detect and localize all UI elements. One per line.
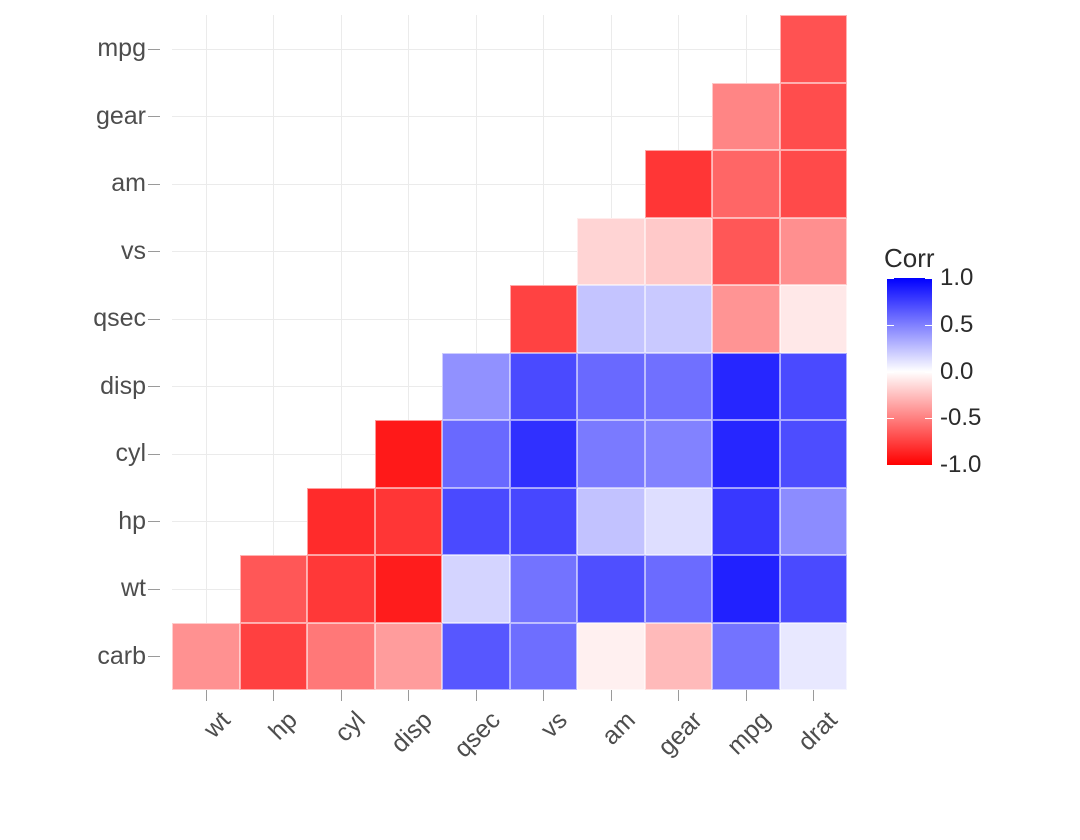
heatmap-cell[interactable] xyxy=(712,420,780,488)
x-axis-tick xyxy=(476,690,477,701)
legend-tick-label: -1.0 xyxy=(940,451,981,479)
legend-tick xyxy=(925,372,932,373)
x-axis-tick xyxy=(206,690,207,701)
x-axis-tick xyxy=(678,690,679,701)
heatmap-cell[interactable] xyxy=(645,420,713,488)
heatmap-cell[interactable] xyxy=(780,83,848,151)
heatmap-cell[interactable] xyxy=(645,555,713,623)
heatmap-cell[interactable] xyxy=(780,15,848,83)
legend-tick-label: -0.5 xyxy=(940,404,981,432)
y-axis-label: gear xyxy=(96,83,146,151)
y-axis-label: hp xyxy=(118,488,146,556)
x-axis-tick xyxy=(341,690,342,701)
heatmap-cell[interactable] xyxy=(645,353,713,421)
y-axis-tick xyxy=(148,386,160,387)
heatmap-cell[interactable] xyxy=(712,150,780,218)
y-axis: mpggearamvsqsecdispcylhpwtcarb xyxy=(0,15,172,690)
y-axis-label: wt xyxy=(121,555,146,623)
y-axis-label: qsec xyxy=(93,285,146,353)
legend-tick xyxy=(887,372,894,373)
y-axis-tick xyxy=(148,319,160,320)
y-axis-tick xyxy=(148,184,160,185)
y-axis-label: vs xyxy=(121,218,146,286)
x-axis-tick xyxy=(813,690,814,701)
heatmap-cell[interactable] xyxy=(442,353,510,421)
heatmap-cell[interactable] xyxy=(375,555,443,623)
legend-tick xyxy=(925,465,932,466)
heatmap-cell[interactable] xyxy=(240,623,308,691)
heatmap-cell[interactable] xyxy=(307,623,375,691)
heatmap-tiles xyxy=(172,15,847,690)
heatmap-cell[interactable] xyxy=(240,555,308,623)
heatmap-cell[interactable] xyxy=(712,623,780,691)
heatmap-cell[interactable] xyxy=(780,555,848,623)
heatmap-cell[interactable] xyxy=(375,488,443,556)
heatmap-cell[interactable] xyxy=(780,285,848,353)
y-axis-label: carb xyxy=(97,623,146,691)
legend-tick xyxy=(887,325,894,326)
heatmap-cell[interactable] xyxy=(307,555,375,623)
legend-colorbar xyxy=(887,278,932,465)
heatmap-cell[interactable] xyxy=(510,420,578,488)
heatmap-cell[interactable] xyxy=(645,218,713,286)
heatmap-cell[interactable] xyxy=(577,353,645,421)
y-axis-tick xyxy=(148,116,160,117)
legend-tick xyxy=(925,325,932,326)
legend-tick-label: 0.5 xyxy=(940,311,973,339)
legend-tick xyxy=(925,418,932,419)
heatmap-cell[interactable] xyxy=(577,555,645,623)
x-axis-tick xyxy=(611,690,612,701)
y-axis-tick xyxy=(148,251,160,252)
heatmap-cell[interactable] xyxy=(712,83,780,151)
heatmap-cell[interactable] xyxy=(780,353,848,421)
heatmap-cell[interactable] xyxy=(375,420,443,488)
heatmap-cell[interactable] xyxy=(577,285,645,353)
legend-tick-label: 0.0 xyxy=(940,358,973,386)
heatmap-cell[interactable] xyxy=(712,353,780,421)
heatmap-cell[interactable] xyxy=(442,555,510,623)
heatmap-cell[interactable] xyxy=(510,623,578,691)
legend-title: Corr xyxy=(884,243,935,274)
heatmap-cell[interactable] xyxy=(510,488,578,556)
heatmap-cell[interactable] xyxy=(645,150,713,218)
heatmap-cell[interactable] xyxy=(510,353,578,421)
heatmap-cell[interactable] xyxy=(577,420,645,488)
legend-tick xyxy=(925,278,932,279)
heatmap-cell[interactable] xyxy=(780,150,848,218)
legend-tick xyxy=(887,418,894,419)
y-axis-label: disp xyxy=(100,353,146,421)
heatmap-cell[interactable] xyxy=(645,623,713,691)
heatmap-cell[interactable] xyxy=(442,488,510,556)
heatmap-cell[interactable] xyxy=(712,488,780,556)
y-axis-tick xyxy=(148,656,160,657)
y-axis-label: mpg xyxy=(97,15,146,83)
heatmap-cell[interactable] xyxy=(780,488,848,556)
x-axis-tick xyxy=(543,690,544,701)
y-axis-label: cyl xyxy=(115,420,146,488)
heatmap-cell[interactable] xyxy=(510,285,578,353)
x-axis-tick xyxy=(408,690,409,701)
heatmap-cell[interactable] xyxy=(712,218,780,286)
heatmap-cell[interactable] xyxy=(172,623,240,691)
y-axis-label: am xyxy=(111,150,146,218)
x-axis-tick xyxy=(746,690,747,701)
heatmap-cell[interactable] xyxy=(780,623,848,691)
heatmap-cell[interactable] xyxy=(510,555,578,623)
heatmap-cell[interactable] xyxy=(375,623,443,691)
y-axis-tick xyxy=(148,521,160,522)
heatmap-cell[interactable] xyxy=(577,218,645,286)
legend-colorbar-ticks xyxy=(887,278,932,465)
heatmap-cell[interactable] xyxy=(645,488,713,556)
heatmap-cell[interactable] xyxy=(780,420,848,488)
chart-root: mpggearamvsqsecdispcylhpwtcarb wthpcyldi… xyxy=(0,0,1080,772)
heatmap-cell[interactable] xyxy=(780,218,848,286)
legend-tick xyxy=(887,465,894,466)
heatmap-cell[interactable] xyxy=(307,488,375,556)
x-axis-tick xyxy=(273,690,274,701)
heatmap-cell[interactable] xyxy=(712,555,780,623)
heatmap-cell[interactable] xyxy=(577,488,645,556)
legend-tick xyxy=(887,278,894,279)
x-axis: wthpcyldispqsecvsamgearmpgdrat xyxy=(172,690,847,772)
heatmap-cell[interactable] xyxy=(645,285,713,353)
y-axis-tick xyxy=(148,454,160,455)
heatmap-cell[interactable] xyxy=(442,623,510,691)
heatmap-cell[interactable] xyxy=(442,420,510,488)
heatmap-cell[interactable] xyxy=(712,285,780,353)
heatmap-cell[interactable] xyxy=(577,623,645,691)
legend-tick-label: 1.0 xyxy=(940,264,973,292)
y-axis-tick xyxy=(148,589,160,590)
y-axis-tick xyxy=(148,49,160,50)
heatmap-panel xyxy=(172,15,847,690)
